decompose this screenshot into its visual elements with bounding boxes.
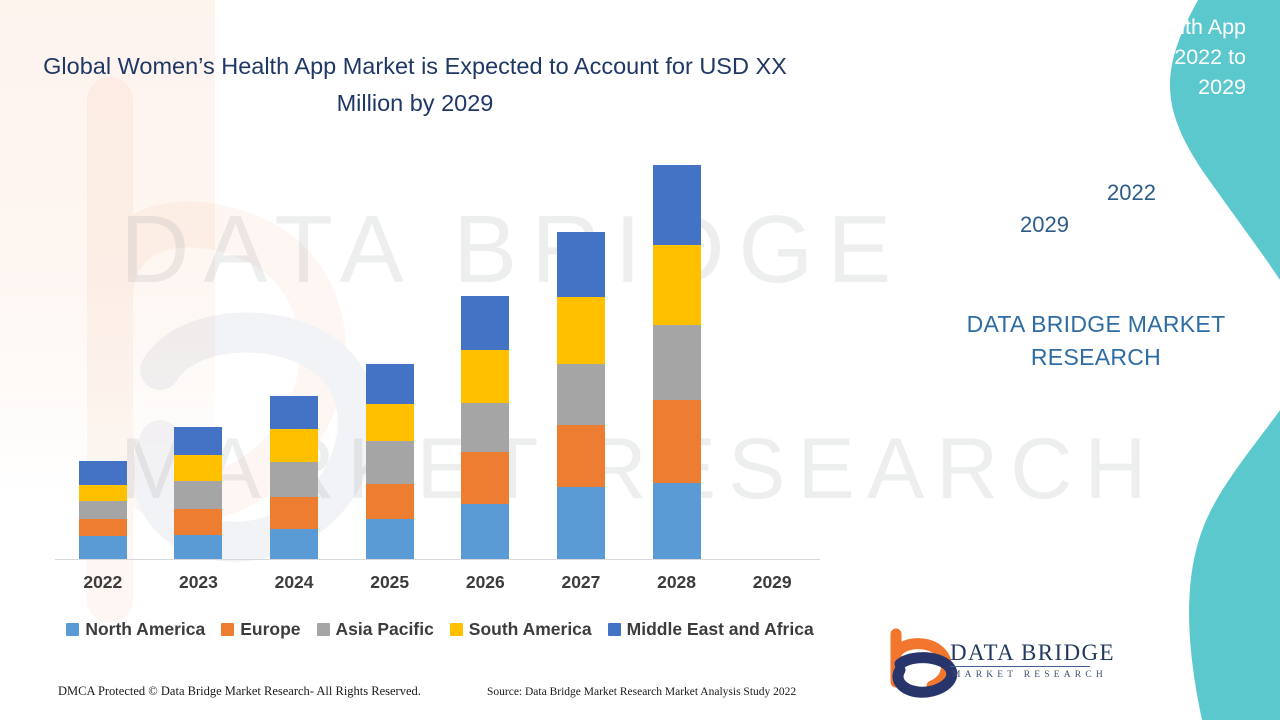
bar-2025 [366,364,414,560]
legend-swatch-icon [317,623,330,636]
bar-segment [653,245,701,325]
x-tick-2027: 2027 [541,572,621,593]
logo-tagline: MARKET RESEARCH [952,670,1107,680]
infographic-canvas: DATA BRIDGE MARKET RESEARCH Global Women… [0,0,1280,720]
bar-segment [174,427,222,455]
bar-2024 [270,396,318,560]
hexagon-2029-label: 2029 [1020,212,1069,238]
chart-legend: North AmericaEuropeAsia PacificSouth Ame… [55,615,825,643]
x-tick-2024: 2024 [254,572,334,593]
bar-segment [461,403,509,453]
bar-segment [174,481,222,509]
legend-item: Europe [221,619,300,640]
legend-item: North America [66,619,205,640]
bar-segment [653,483,701,560]
bar-segment [653,400,701,483]
bar-segment [174,535,222,560]
bar-segment [461,296,509,350]
bar-segment [366,404,414,442]
bar-segment [653,165,701,245]
bar-segment [79,485,127,501]
bar-2022 [79,461,127,560]
hexagon-group: 2022 2029 [980,150,1180,270]
bar-segment [366,364,414,404]
stacked-bar-plot [55,150,820,560]
bar-segment [270,462,318,498]
x-tick-2023: 2023 [158,572,238,593]
bar-segment [366,519,414,560]
legend-swatch-icon [608,623,621,636]
logo-wordmark: DATA BRIDGE [950,640,1115,666]
bar-segment [653,325,701,401]
x-tick-2029: 2029 [732,572,812,593]
bar-segment [79,501,127,519]
bar-2028 [653,165,701,560]
logo-divider [950,666,1090,667]
bar-segment [366,484,414,519]
x-tick-2026: 2026 [445,572,525,593]
legend-label: Asia Pacific [336,619,434,640]
legend-item: Asia Pacific [317,619,434,640]
bar-segment [557,425,605,487]
legend-label: Europe [240,619,300,640]
page-title: Global Women’s Health App Market is Expe… [40,48,790,122]
bar-segment [461,350,509,403]
x-tick-2025: 2025 [350,572,430,593]
x-axis-tick-labels: 20222023202420252026202720282029 [55,572,820,602]
bar-segment [557,487,605,560]
bar-segment [270,396,318,429]
bar-segment [461,504,509,560]
x-tick-2022: 2022 [63,572,143,593]
legend-swatch-icon [221,623,234,636]
brand-name: DATA BRIDGE MARKET RESEARCH [946,308,1246,374]
bar-segment [79,519,127,536]
legend-label: North America [85,619,205,640]
bar-segment [366,441,414,484]
legend-swatch-icon [450,623,463,636]
legend-item: Middle East and Africa [608,619,814,640]
bar-2026 [461,296,509,560]
bar-segment [557,297,605,364]
legend-swatch-icon [66,623,79,636]
bar-2027 [557,232,605,560]
bar-segment [79,536,127,560]
bar-segment [270,497,318,528]
bar-segment [557,232,605,297]
copyright-text: DMCA Protected © Data Bridge Market Rese… [58,684,421,699]
legend-item: South America [450,619,592,640]
x-tick-2028: 2028 [637,572,717,593]
x-axis-line [55,559,820,560]
bar-segment [270,529,318,560]
source-text: Source: Data Bridge Market Research Mark… [487,686,796,698]
bar-segment [79,461,127,485]
bar-segment [557,364,605,426]
bar-segment [461,452,509,504]
footer: DMCA Protected © Data Bridge Market Rese… [0,684,840,708]
hexagon-2022-label: 2022 [1107,180,1156,206]
bar-segment [174,509,222,535]
bar-segment [270,429,318,461]
bar-2023 [174,427,222,560]
legend-label: South America [469,619,592,640]
brand-panel: Global Women’s Health App Market, By Reg… [810,0,1280,720]
bar-segment [174,455,222,481]
legend-label: Middle East and Africa [627,619,814,640]
panel-title: Global Women’s Health App Market, By Reg… [928,12,1246,102]
